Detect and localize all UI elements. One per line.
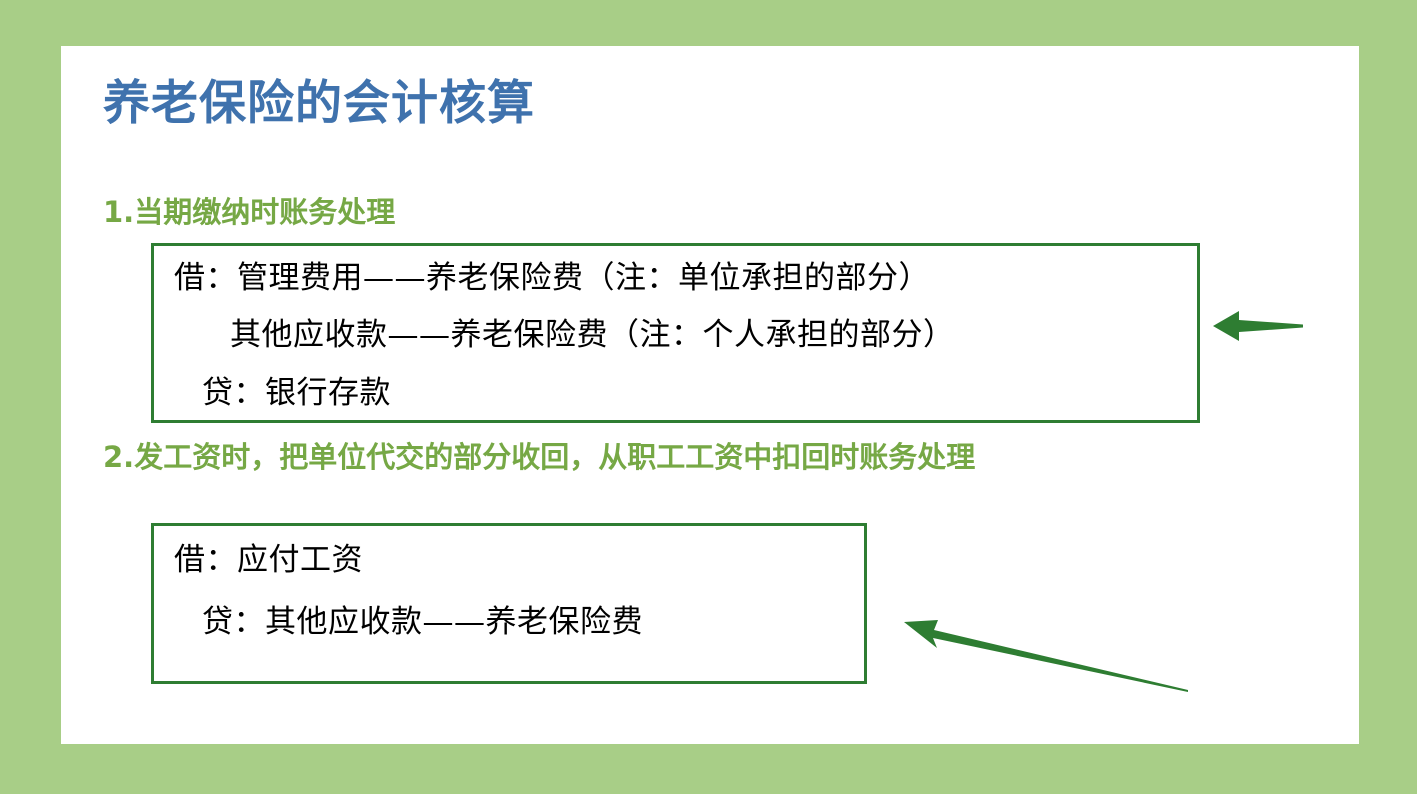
list-item-1-number: 1. (103, 193, 134, 232)
left-arrow-icon (1213, 305, 1303, 347)
slide-root: 养老保险的会计核算 1.当期缴纳时账务处理 借：管理费用——养老保险费（注：单位… (0, 0, 1417, 794)
list-item-2-number: 2. (103, 438, 134, 477)
list-item-2-label: 发工资时，把单位代交的部分收回，从职工工资中扣回时账务处理 (134, 440, 975, 474)
diagonal-arrow-icon (900, 612, 1190, 700)
journal-entry-2-line-1: 借：应付工资 (174, 534, 363, 579)
list-item-2: 2.发工资时，把单位代交的部分收回，从职工工资中扣回时账务处理 (103, 438, 1293, 477)
journal-entry-1-line-2: 其他应收款——养老保险费（注：个人承担的部分） (230, 309, 955, 354)
journal-entry-1-line-3: 贷：银行存款 (202, 367, 391, 412)
journal-entry-box-2: 借：应付工资 贷：其他应收款——养老保险费 (151, 523, 867, 684)
list-item-1: 1.当期缴纳时账务处理 (103, 193, 395, 232)
page-title: 养老保险的会计核算 (103, 64, 535, 133)
journal-entry-2-line-2: 贷：其他应收款——养老保险费 (202, 596, 643, 641)
list-item-1-label: 当期缴纳时账务处理 (134, 195, 395, 229)
journal-entry-box-1: 借：管理费用——养老保险费（注：单位承担的部分） 其他应收款——养老保险费（注：… (151, 243, 1200, 423)
journal-entry-1-line-1: 借：管理费用——养老保险费（注：单位承担的部分） (174, 252, 930, 297)
